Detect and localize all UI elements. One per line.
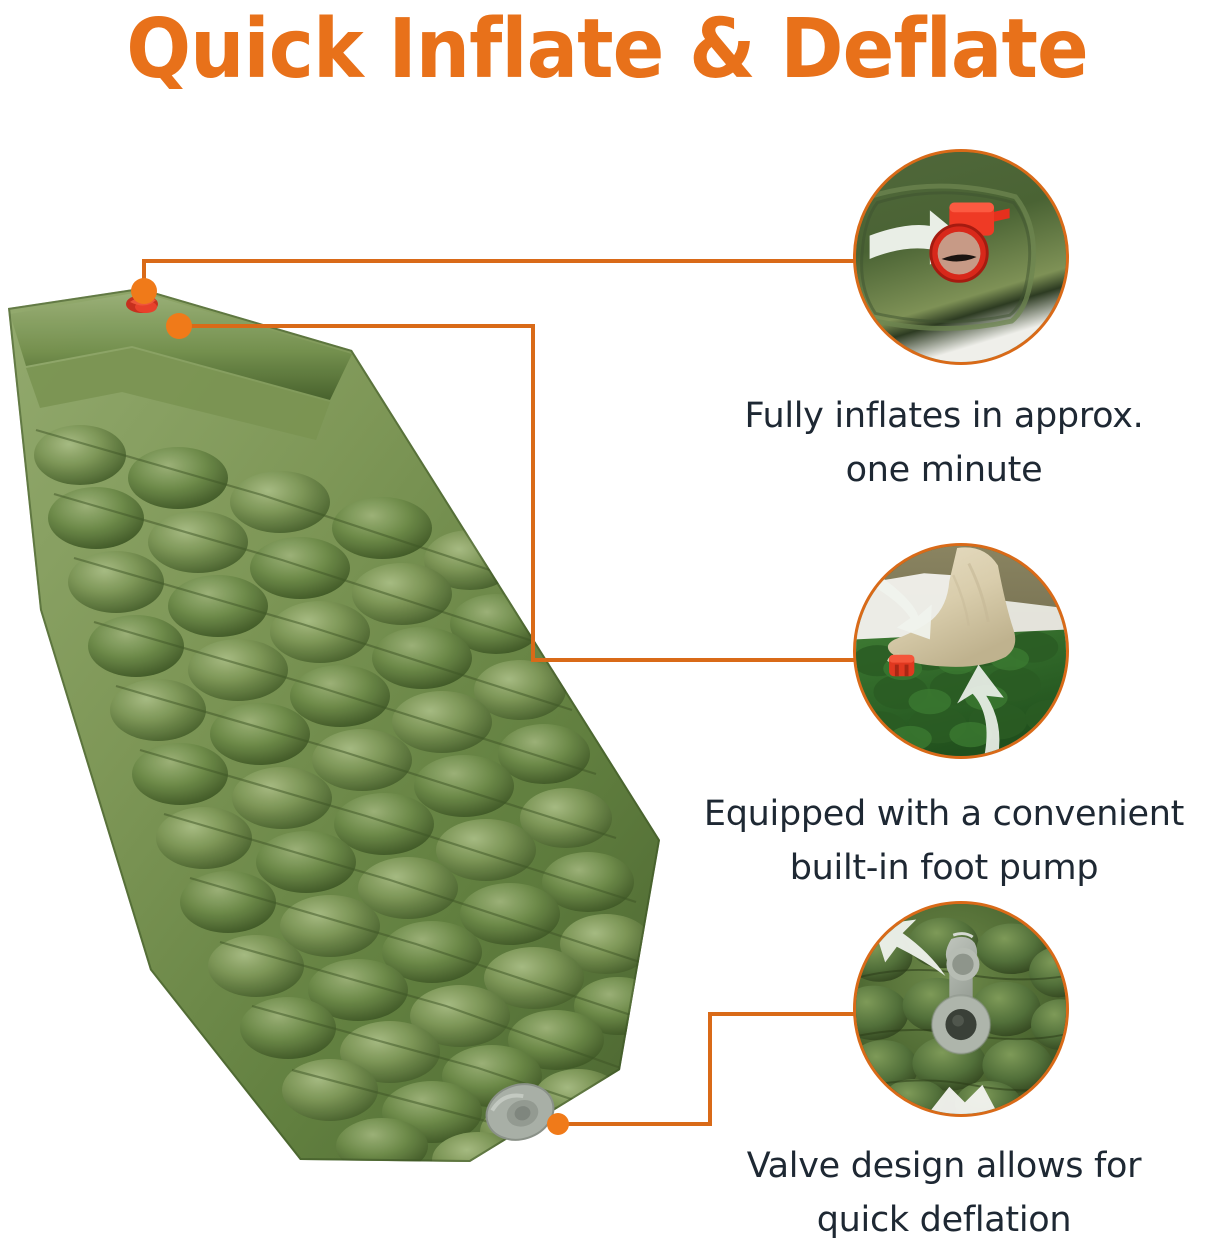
caption-line-1: Fully inflates in approx. [674,389,1214,443]
caption-foot-pump: Equipped with a convenient built-in foot… [674,787,1214,895]
caption-line-1: Valve design allows for [674,1139,1214,1193]
caption-line-2: built-in foot pump [674,841,1214,895]
caption-line-2: quick deflation [674,1193,1214,1247]
product-image-sleeping-pad [0,280,680,1190]
caption-valve-deflation: Valve design allows for quick deflation [674,1139,1214,1247]
red-footpump-valve [889,655,914,676]
page-title: Quick Inflate & Deflate [42,2,1171,98]
caption-fully-inflates: Fully inflates in approx. one minute [674,389,1214,497]
inset-photo-deflation-valve [853,901,1069,1117]
inset-photo-inflation-valve [853,149,1069,365]
caption-line-1: Equipped with a convenient [674,787,1214,841]
pad-inflation-valve [126,295,158,313]
caption-line-2: one minute [674,443,1214,497]
inset-photo-foot-pump [853,543,1069,759]
